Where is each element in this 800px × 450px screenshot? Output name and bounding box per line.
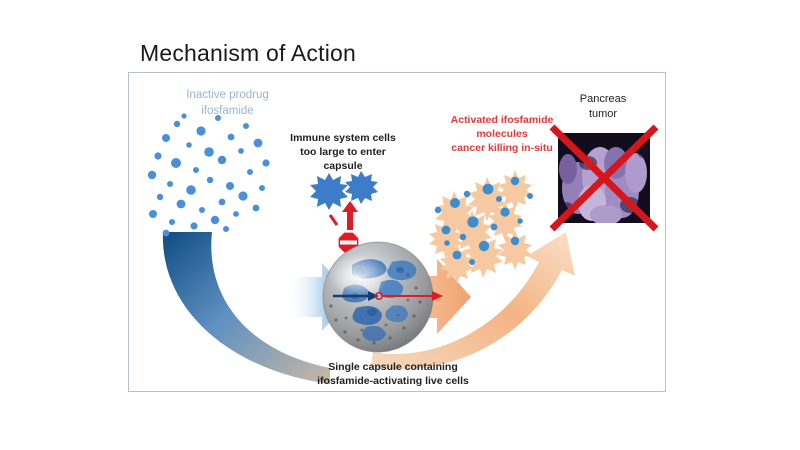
- label-immune-cells-line3: capsule: [278, 159, 408, 173]
- label-immune-cells-line1: Immune system cells: [278, 131, 408, 145]
- label-activated-line2: molecules: [432, 127, 572, 141]
- label-activated-ifosfamide: Activated ifosfamide molecules cancer ki…: [432, 113, 572, 156]
- slide-canvas: Mechanism of Action: [0, 0, 800, 450]
- label-pancreas-tumor-line2: tumor: [558, 107, 648, 122]
- label-immune-cells: Immune system cells too large to enter c…: [278, 131, 408, 174]
- label-pancreas-tumor-line1: Pancreas: [558, 92, 648, 107]
- label-inactive-prodrug-line2: ifosfamide: [160, 104, 295, 120]
- label-pancreas-tumor: Pancreas tumor: [558, 92, 648, 122]
- label-single-capsule-line1: Single capsule containing: [278, 360, 508, 374]
- label-immune-cells-line2: too large to enter: [278, 145, 408, 159]
- label-inactive-prodrug: Inactive prodrug ifosfamide: [160, 88, 295, 119]
- label-activated-line1: Activated ifosfamide: [432, 113, 572, 127]
- label-inactive-prodrug-line1: Inactive prodrug: [160, 88, 295, 104]
- label-single-capsule: Single capsule containing ifosfamide-act…: [278, 360, 508, 388]
- label-activated-line3: cancer killing in-situ: [432, 141, 572, 155]
- label-single-capsule-line2: ifosfamide-activating live cells: [278, 374, 508, 388]
